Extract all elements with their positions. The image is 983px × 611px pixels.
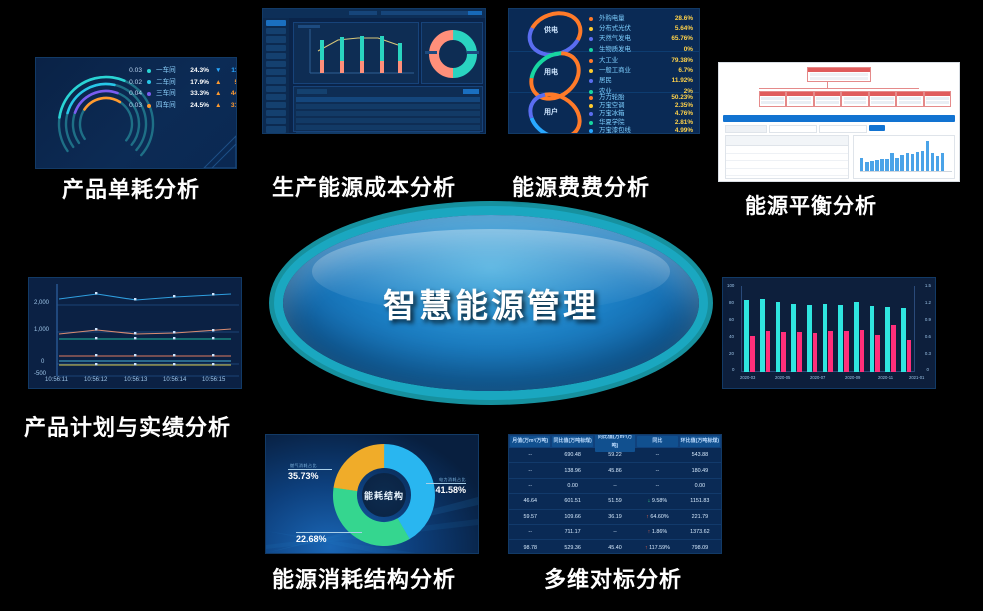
x-tick-label: 2020-11: [878, 375, 893, 380]
list-item: 分布式光伏5.64%: [589, 24, 693, 34]
callout-leader-line: [426, 483, 466, 484]
y2-tick-label: 0.6: [925, 334, 931, 339]
unit-value: 0.04: [122, 88, 142, 100]
list-item: 0.03 四车间 24.5% ▲ 31.4%: [122, 100, 237, 112]
caption-energy-balance-analysis: 能源平衡分析: [745, 190, 877, 220]
slice-callout: 35.73%: [288, 471, 319, 481]
legend-dot-icon: [147, 80, 151, 84]
balance-bar-chart: [853, 135, 955, 179]
change-value: 44.8%: [222, 88, 237, 100]
table-row[interactable]: 46.64 601.51 51.59 ↓ 9.58% 1151.83: [509, 494, 721, 509]
slice-callout: 22.68%: [296, 534, 327, 544]
customer-legend: 万力轮胎50.23% 万宝空调2.35% 万宝冰箱4.76% 华夏学院2.81%…: [589, 94, 693, 134]
x-tick-label: 2020-09: [845, 375, 860, 380]
ring-center-label: 供电: [527, 25, 575, 35]
query-button[interactable]: [869, 125, 885, 131]
arrow-down-icon: ↓: [648, 498, 651, 504]
list-item: 一般工商业6.7%: [589, 66, 693, 76]
series-name: 一车间: [156, 65, 182, 77]
table-row[interactable]: 98.78 529.36 45.40 ↑ 117.59% 798.09: [509, 540, 721, 554]
unit-value: 0.02: [122, 77, 142, 89]
panel-consumption-structure[interactable]: 能耗结构 燃气消耗占比 35.73% 电力消耗占比 41.58% 22.68%: [265, 434, 479, 554]
legend-dot-icon: [589, 129, 593, 133]
ring-center-label: 用电: [527, 67, 575, 77]
y2-tick-label: 0.9: [925, 317, 931, 322]
caption-product-unit-analysis: 产品单耗分析: [62, 172, 200, 204]
legend-dot-icon: [589, 121, 593, 125]
column-header[interactable]: 月值(万m³/万吨): [510, 436, 550, 447]
fee-group-customer: 用户 万力轮胎50.23% 万宝空调2.35% 万宝冰箱4.76% 华夏学院2.…: [509, 92, 699, 133]
y-tick-label: 2,000: [34, 300, 49, 306]
legend-dot-icon: [589, 69, 593, 73]
x-tick-label: 2021-01: [909, 375, 924, 380]
share-value: 24.5%: [182, 100, 209, 112]
table-row[interactable]: 59.57 109.66 36.19 ↑ 64.60% 221.79: [509, 510, 721, 525]
tree-connector: [759, 88, 919, 89]
filter-select[interactable]: [725, 125, 767, 133]
fee-group-supply: 供电 外购电量28.6% 分布式光伏5.64% 天然气发电65.76% 生物质发…: [509, 9, 699, 52]
x-tick-label: 10:56:15: [202, 377, 225, 383]
cost-share-donut: [421, 22, 483, 84]
table-row[interactable]: -- 138.96 45.86 -- 180.49: [509, 463, 721, 478]
legend-dot-icon: [589, 104, 593, 108]
arrow-up-icon: ↑: [648, 529, 651, 535]
list-item: 居民11.92%: [589, 76, 693, 86]
y-tick-label: 60: [729, 317, 734, 322]
y-tick-label: 0: [41, 359, 44, 365]
legend-dot-icon: [147, 92, 151, 96]
column-header[interactable]: 同比值(万吨标煤): [552, 436, 592, 447]
list-item: 大工业79.38%: [589, 56, 693, 66]
y2-tick-label: 0: [927, 367, 929, 372]
fee-group-usage: 用电 大工业79.38% 一般工商业6.7% 居民11.92% 农业2%: [509, 51, 699, 93]
list-item: 外购电量28.6%: [589, 14, 693, 24]
share-value: 33.3%: [182, 88, 209, 100]
y-tick-label: 20: [729, 351, 734, 356]
table-row[interactable]: -- 711.17 -- ↑ 1.86% 1373.62: [509, 525, 721, 540]
plan-actual-line-chart: [29, 278, 241, 388]
usage-legend: 大工业79.38% 一般工商业6.7% 居民11.92% 农业2%: [589, 56, 693, 97]
cost-trend-chart: [293, 22, 419, 84]
panel-product-unit-analysis[interactable]: 0.03 一车间 24.3% ▼ 11.3% 0.02 二车间 17.9% ▲ …: [35, 57, 237, 169]
panel-multidim-benchmark[interactable]: 月值(万m³/万吨) 同比值(万吨标煤) 同比值(万m³/万吨) 同比 环比值(…: [508, 434, 722, 554]
legend-dot-icon: [147, 69, 151, 73]
x-tick-label: 2020-05: [775, 375, 790, 380]
legend-dot-icon: [589, 37, 593, 41]
dashboard-topbar: [263, 9, 485, 18]
date-to-input[interactable]: [819, 125, 867, 133]
legend-dot-icon: [589, 59, 593, 63]
x-tick-label: 2020-03: [740, 375, 755, 380]
series-name: 四车间: [156, 100, 182, 112]
legend-dot-icon: [589, 112, 593, 116]
arrow-up-icon: ↑: [645, 545, 648, 551]
poster-canvas: 0.03 一车间 24.3% ▼ 11.3% 0.02 二车间 17.9% ▲ …: [0, 0, 983, 611]
legend-dot-icon: [589, 17, 593, 21]
caption-plan-actual-analysis: 产品计划与实绩分析: [24, 410, 231, 442]
y2-tick-label: 1.2: [925, 300, 931, 305]
donut-center-label: 能耗结构: [364, 489, 404, 502]
list-item: 万宝漆包线4.99%: [589, 127, 693, 134]
change-value: 11.3%: [222, 65, 237, 77]
legend-dot-icon: [147, 104, 151, 108]
supply-legend: 外购电量28.6% 分布式光伏5.64% 天然气发电65.76% 生物质发电0%: [589, 14, 693, 55]
table-header: 月值(万m³/万吨) 同比值(万吨标煤) 同比值(万m³/万吨) 同比 环比值(…: [509, 435, 721, 448]
y-tick-label: 100: [727, 283, 734, 288]
callout-leader-line: [288, 469, 332, 470]
caption-energy-fee-analysis: 能源费费分析: [512, 170, 650, 202]
date-from-input[interactable]: [769, 125, 817, 133]
x-tick-label: 10:56:11: [45, 377, 68, 383]
legend-dot-icon: [589, 79, 593, 83]
legend-dot-icon: [589, 96, 593, 100]
series-name: 二车间: [156, 77, 182, 89]
tree-root-node: [807, 67, 871, 82]
panel-energy-fee-analysis[interactable]: 供电 外购电量28.6% 分布式光伏5.64% 天然气发电65.76% 生物质发…: [508, 8, 700, 134]
unit-value: 0.03: [122, 100, 142, 112]
list-item: 0.03 一车间 24.3% ▼ 11.3%: [122, 65, 237, 77]
share-value: 24.3%: [182, 65, 209, 77]
slice-callout: 41.58%: [435, 485, 466, 495]
caption-multidim-benchmark-analysis: 多维对标分析: [544, 562, 682, 594]
change-value: 31.4%: [222, 100, 237, 112]
unit-value: 0.03: [122, 65, 142, 77]
legend-dot-icon: [589, 27, 593, 31]
x-tick-label: 10:56:13: [124, 377, 147, 383]
panel-monthly-comparison[interactable]: 100 80 60 40 20 0 1.5 1.2 0.9 0.6 0.3 0 …: [722, 277, 936, 389]
list-item: 0.02 二车间 17.9% ▲ 5.7%: [122, 77, 237, 89]
change-value: 5.7%: [222, 77, 237, 89]
donut-center: 能耗结构: [362, 473, 406, 517]
cost-detail-table[interactable]: [293, 86, 483, 132]
dashboard-sidebar[interactable]: [263, 18, 289, 133]
y2-tick-label: 0.3: [925, 351, 931, 356]
table-row[interactable]: -- 0.00 -- -- 0.00: [509, 479, 721, 494]
series-name: 三车间: [156, 88, 182, 100]
column-header[interactable]: 同比值(万m³/万吨): [595, 434, 635, 452]
list-item: 万力轮胎50.23%: [589, 94, 693, 102]
y-tick-label: 40: [729, 334, 734, 339]
tree-children: [759, 91, 951, 107]
section-banner: [723, 115, 955, 122]
x-tick-label: 10:56:12: [84, 377, 107, 383]
product-unit-legend: 0.03 一车间 24.3% ▼ 11.3% 0.02 二车间 17.9% ▲ …: [122, 65, 237, 111]
x-tick-label: 2020-07: [810, 375, 825, 380]
callout-leader-line: [296, 532, 362, 533]
page-title: 智慧能源管理: [383, 279, 599, 327]
y2-tick-label: 1.5: [925, 283, 931, 288]
y-tick-label: 80: [729, 300, 734, 305]
column-header[interactable]: 同比: [637, 436, 677, 447]
y-tick-label: 0: [732, 367, 734, 372]
panel-energy-balance[interactable]: [718, 62, 960, 182]
center-hub[interactable]: 智慧能源管理: [283, 215, 699, 391]
list-item: 华夏学院2.81%: [589, 119, 693, 127]
panel-plan-actual-analysis[interactable]: 2,000 1,000 0 -500 10:56:11 10:56:12 10:…: [28, 277, 242, 389]
arrow-up-icon: ↑: [646, 514, 649, 520]
column-header[interactable]: 环比值(万吨标煤): [680, 436, 720, 447]
y-tick-label: 1,000: [34, 327, 49, 333]
caption-production-energy-cost: 生产能源成本分析: [272, 170, 456, 202]
panel-production-energy-cost[interactable]: [262, 8, 486, 134]
balance-table[interactable]: [725, 135, 849, 179]
list-item: 天然气发电65.76%: [589, 34, 693, 44]
list-item: 万宝冰箱4.76%: [589, 110, 693, 118]
caption-consumption-structure-analysis: 能源消耗结构分析: [272, 562, 456, 594]
list-item: 0.04 三车间 33.3% ▲ 44.8%: [122, 88, 237, 100]
ring-center-label: 用户: [527, 107, 575, 117]
share-value: 17.9%: [182, 77, 209, 89]
monthly-bar-chart: [741, 286, 915, 372]
x-tick-label: 10:56:14: [163, 377, 186, 383]
